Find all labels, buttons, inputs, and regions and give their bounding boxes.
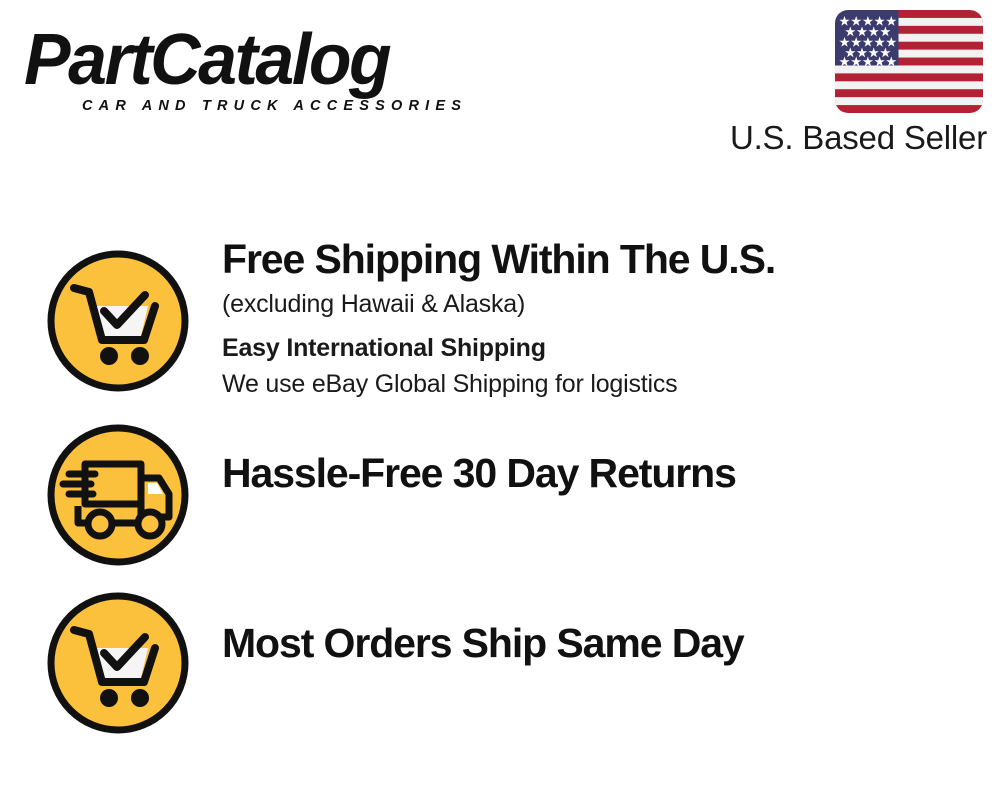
- benefit-note: (excluding Hawaii & Alaska): [222, 286, 982, 322]
- shopping-cart-check-icon: [45, 248, 191, 394]
- benefit-subnote: We use eBay Global Shipping for logistic…: [222, 366, 982, 402]
- benefit-title: Free Shipping Within The U.S.: [222, 232, 982, 286]
- benefit-title: Most Orders Ship Same Day: [222, 616, 982, 670]
- brand-tagline: CAR AND TRUCK ACCESSORIES: [82, 98, 467, 114]
- benefit-subtitle: Easy International Shipping: [222, 322, 982, 366]
- brand-wordmark: PartCatalog: [24, 24, 480, 96]
- benefit-title: Hassle-Free 30 Day Returns: [222, 446, 982, 500]
- benefit-text-block: Hassle-Free 30 Day Returns: [222, 446, 982, 500]
- benefit-row: Hassle-Free 30 Day Returns: [0, 402, 1000, 572]
- brand-logo: PartCatalog CAR AND TRUCK ACCESSORIES: [24, 24, 494, 114]
- us-based-seller-badge: [835, 10, 985, 113]
- benefit-text-block: Most Orders Ship Same Day: [222, 616, 982, 670]
- delivery-truck-icon: [45, 422, 191, 568]
- shopping-cart-check-icon: [45, 590, 191, 736]
- us-flag-icon: [835, 10, 983, 113]
- seller-info-banner: PartCatalog CAR AND TRUCK ACCESSORIES: [0, 0, 1000, 800]
- benefits-list: Free Shipping Within The U.S. (excluding…: [0, 232, 1000, 742]
- benefit-row: Most Orders Ship Same Day: [0, 572, 1000, 742]
- benefit-text-block: Free Shipping Within The U.S. (excluding…: [222, 232, 982, 402]
- us-based-seller-label: U.S. Based Seller: [730, 118, 987, 158]
- benefit-row: Free Shipping Within The U.S. (excluding…: [0, 232, 1000, 402]
